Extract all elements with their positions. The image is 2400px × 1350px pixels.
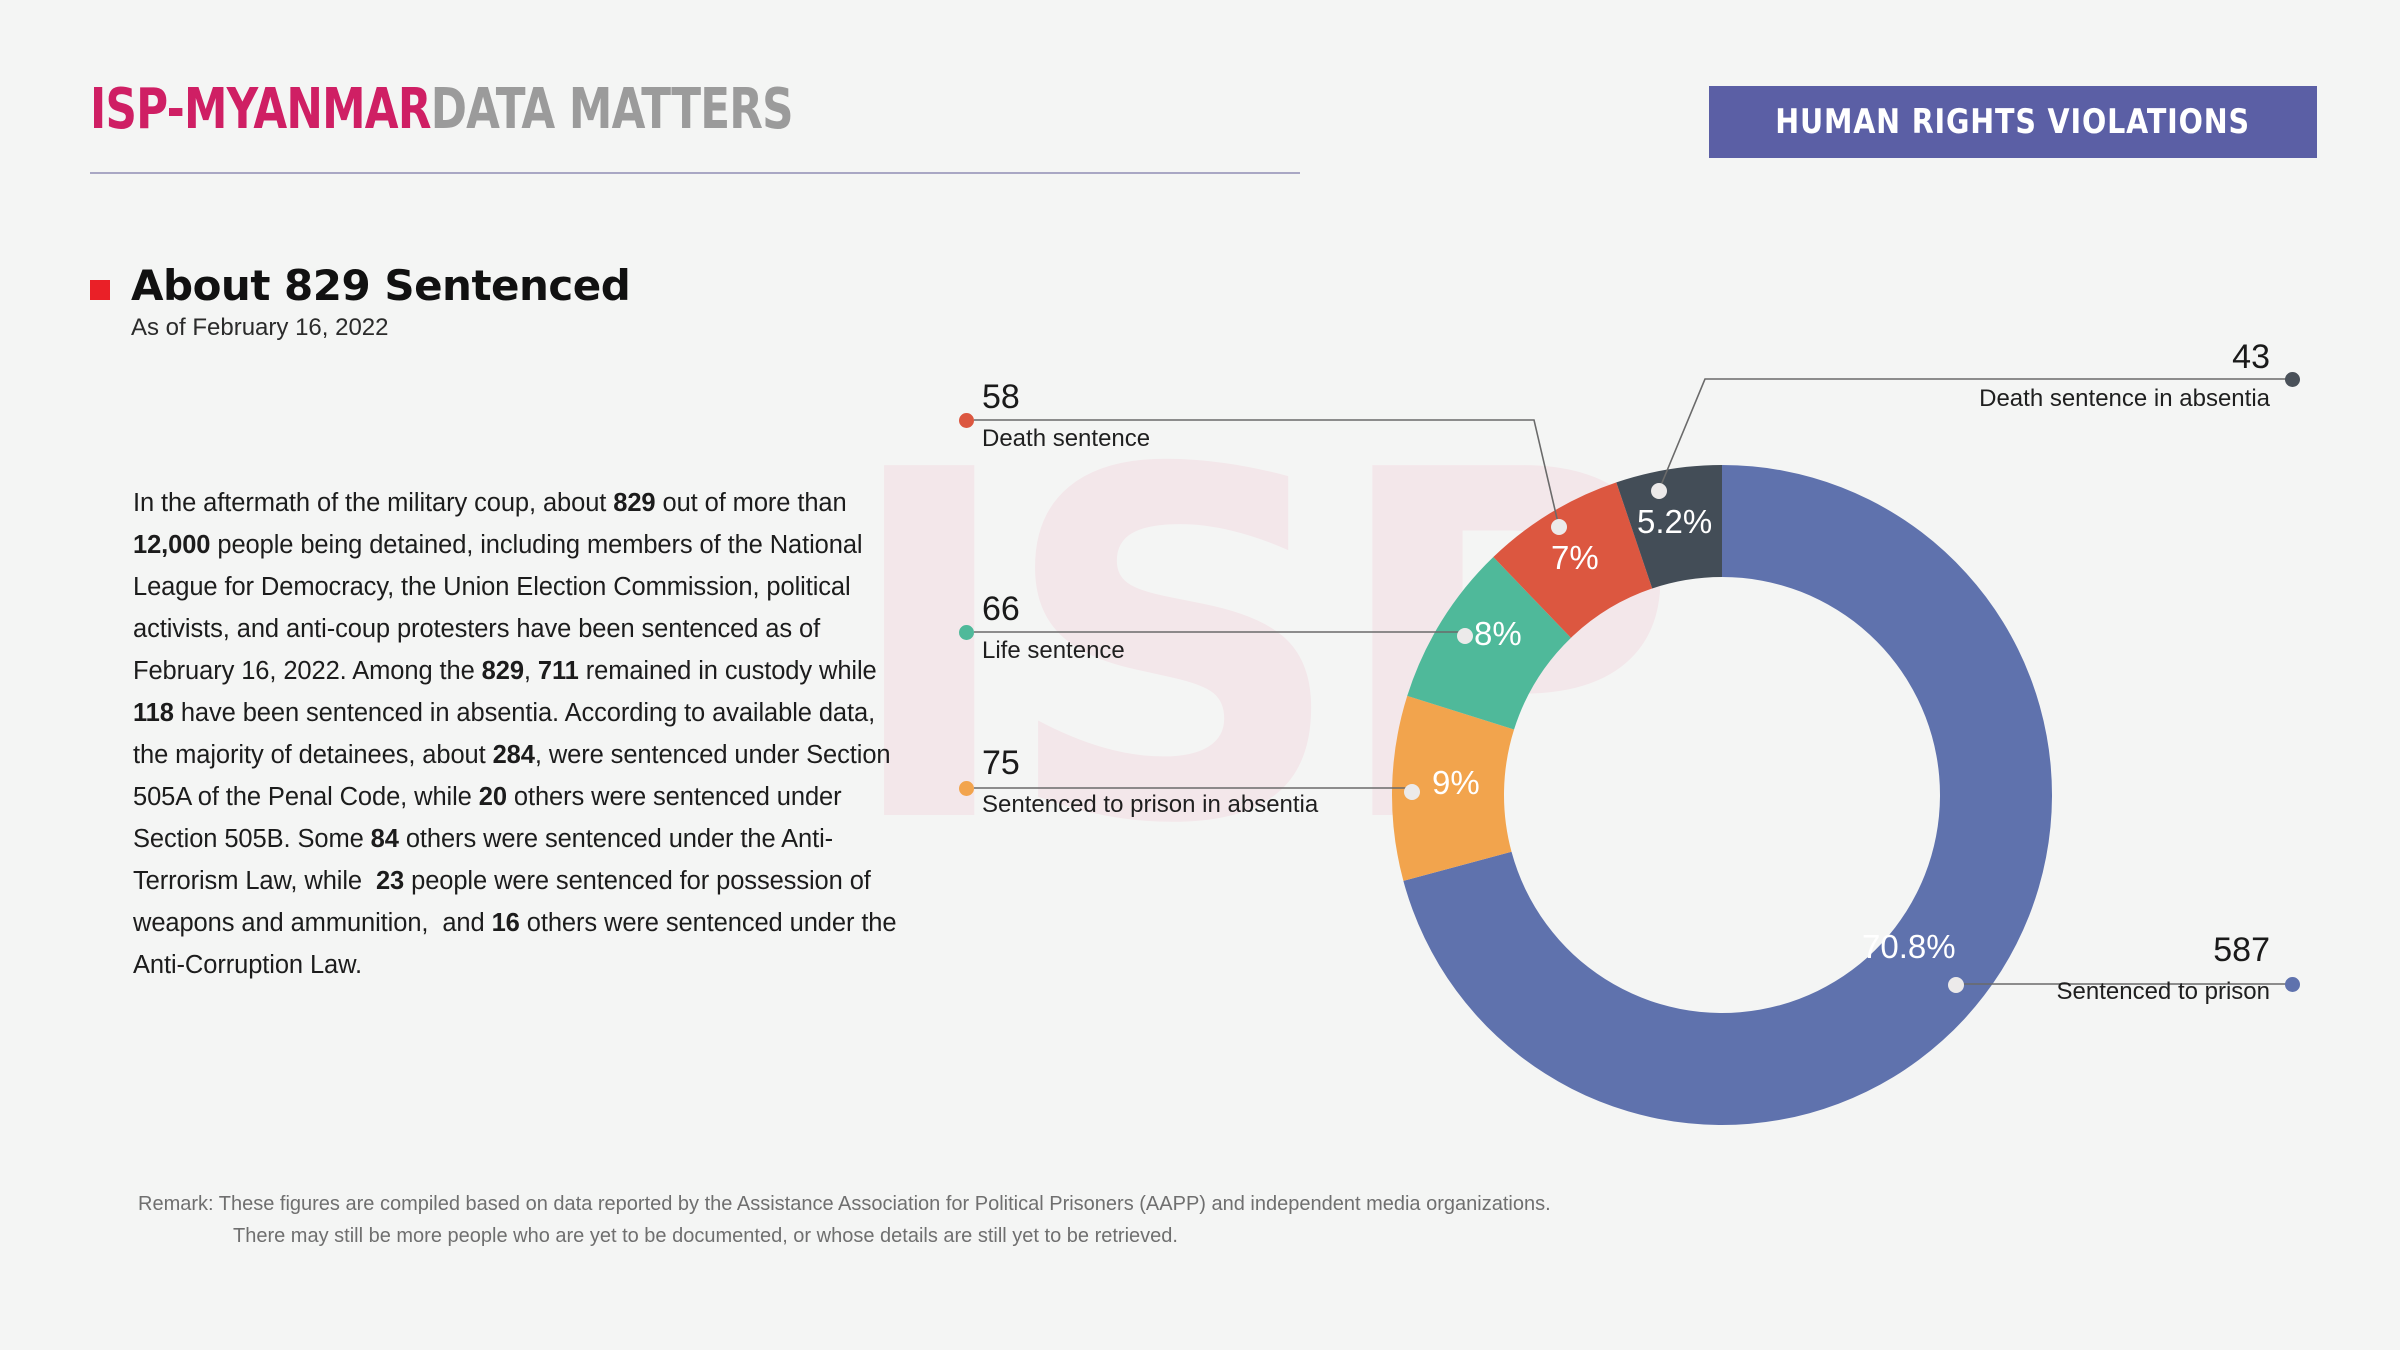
slice-anchor-sentenced-to-prison: [1948, 977, 1964, 993]
brand-primary: ISP-MYANMAR: [90, 77, 431, 142]
callout-dot-death-sentence-in-absentia: [2285, 372, 2300, 387]
footer-remark-line1: Remark: These figures are compiled based…: [138, 1193, 1551, 1215]
category-badge-label: HUMAN RIGHTS VIOLATIONS: [1776, 102, 2251, 142]
slice-anchor-life-sentence: [1457, 628, 1473, 644]
callout-dot-life-sentence: [959, 625, 974, 640]
donut-slice-sentenced-to-prison: [1403, 465, 2052, 1125]
header-divider: [90, 172, 1300, 174]
page-subtitle: As of February 16, 2022: [131, 314, 388, 342]
footer-remark-line2: There may still be more people who are y…: [138, 1220, 2198, 1252]
body-paragraph: In the aftermath of the military coup, a…: [133, 482, 903, 986]
callout-dot-prison-in-absentia: [959, 781, 974, 796]
callout-death-sentence: 58 Death sentence: [982, 380, 1150, 451]
callout-label: Death sentence: [982, 427, 1150, 451]
slice-anchor-prison-in-absentia: [1404, 784, 1420, 800]
callout-label: Death sentence in absentia: [1979, 387, 2270, 411]
callout-value: 58: [982, 380, 1150, 414]
page-title: About 829 Sentenced: [131, 262, 630, 309]
callout-dot-death-sentence: [959, 413, 974, 428]
callout-value: 587: [2057, 933, 2270, 967]
infographic-canvas: ISP ISP-MYANMARDATA MATTERS HUMAN RIGHTS…: [0, 0, 2400, 1350]
callout-label: Sentenced to prison: [2057, 980, 2270, 1004]
brand-wordmark: ISP-MYANMARDATA MATTERS: [90, 82, 793, 138]
pct-label-death-sentence-in-absentia: 5.2%: [1637, 505, 1712, 538]
pct-label-death-sentence: 7%: [1551, 541, 1599, 574]
callout-dot-sentenced-to-prison: [2285, 977, 2300, 992]
brand-secondary: DATA MATTERS: [431, 77, 793, 142]
callout-prison-in-absentia: 75 Sentenced to prison in absentia: [982, 746, 1318, 817]
slice-anchor-death-sentence-in-absentia: [1651, 483, 1667, 499]
callout-value: 75: [982, 746, 1318, 780]
callout-sentenced-to-prison: 587 Sentenced to prison: [2057, 933, 2270, 1004]
callout-value: 43: [1979, 340, 2270, 374]
pct-label-sentenced-to-prison: 70.8%: [1862, 930, 1956, 963]
callout-label: Sentenced to prison in absentia: [982, 793, 1318, 817]
category-badge: HUMAN RIGHTS VIOLATIONS: [1709, 86, 2317, 158]
slice-anchor-death-sentence: [1551, 519, 1567, 535]
callout-life-sentence: 66 Life sentence: [982, 592, 1125, 663]
callout-label: Life sentence: [982, 639, 1125, 663]
pct-label-prison-in-absentia: 9%: [1432, 766, 1480, 799]
callout-value: 66: [982, 592, 1125, 626]
title-square-marker: [90, 280, 110, 300]
pct-label-life-sentence: 8%: [1474, 617, 1522, 650]
callout-death-sentence-in-absentia: 43 Death sentence in absentia: [1979, 340, 2270, 411]
footer-remark: Remark: These figures are compiled based…: [138, 1188, 2198, 1252]
page-title-row: About 829 Sentenced: [90, 262, 630, 309]
